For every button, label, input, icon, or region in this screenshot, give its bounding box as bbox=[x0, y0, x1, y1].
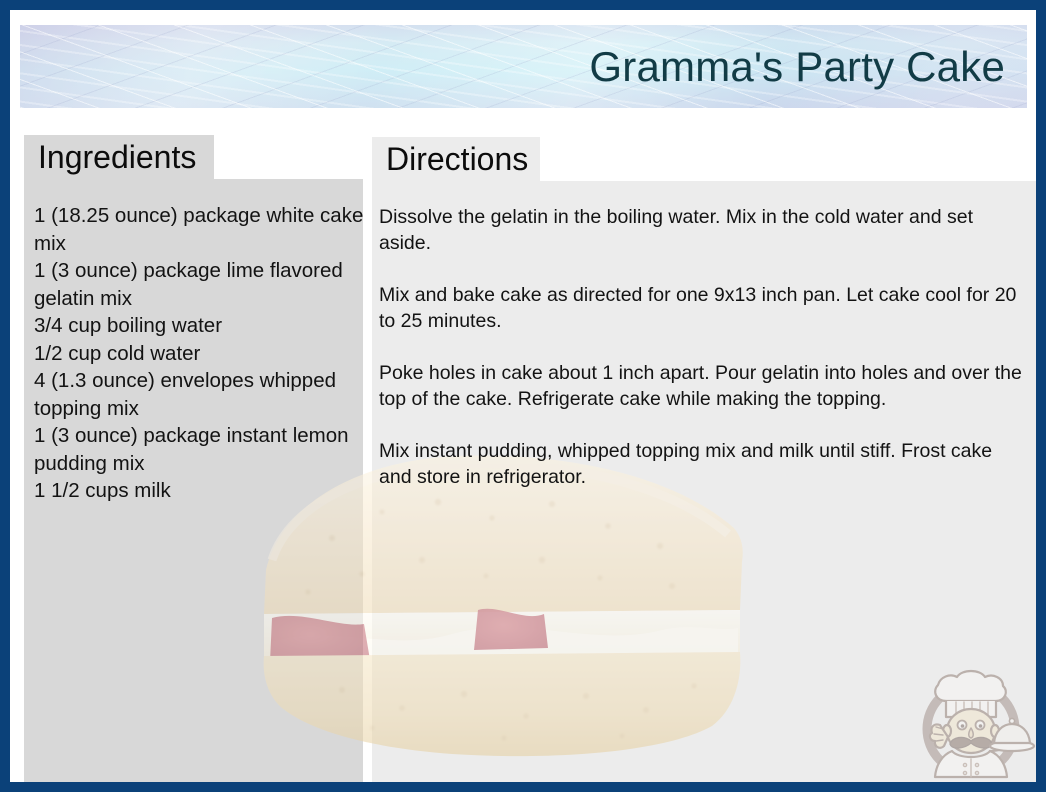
list-item: 1 (18.25 ounce) package white cake mix bbox=[34, 202, 366, 257]
recipe-card: Gramma's Party Cake Ingredients Directio… bbox=[0, 0, 1046, 792]
list-item: 1 1/2 cups milk bbox=[34, 477, 366, 505]
list-item: 1/2 cup cold water bbox=[34, 340, 366, 368]
tab-directions[interactable]: Directions bbox=[372, 137, 540, 181]
ingredients-list: 1 (18.25 ounce) package white cake mix 1… bbox=[34, 202, 366, 505]
header-banner: Gramma's Party Cake bbox=[20, 25, 1027, 108]
list-item: 4 (1.3 ounce) envelopes whipped topping … bbox=[34, 367, 366, 422]
list-item: Poke holes in cake about 1 inch apart. P… bbox=[379, 360, 1029, 412]
list-item: Mix and bake cake as directed for one 9x… bbox=[379, 282, 1029, 334]
list-item: 1 (3 ounce) package instant lemon puddin… bbox=[34, 422, 366, 477]
list-item: Mix instant pudding, whipped topping mix… bbox=[379, 438, 1029, 490]
list-item: 3/4 cup boiling water bbox=[34, 312, 366, 340]
directions-list: Dissolve the gelatin in the boiling wate… bbox=[379, 204, 1029, 490]
list-item: Dissolve the gelatin in the boiling wate… bbox=[379, 204, 1029, 256]
page-title: Gramma's Party Cake bbox=[589, 43, 1005, 91]
recipe-card-inner: Gramma's Party Cake Ingredients Directio… bbox=[10, 10, 1036, 782]
tab-ingredients[interactable]: Ingredients bbox=[24, 135, 214, 179]
list-item: 1 (3 ounce) package lime flavored gelati… bbox=[34, 257, 366, 312]
